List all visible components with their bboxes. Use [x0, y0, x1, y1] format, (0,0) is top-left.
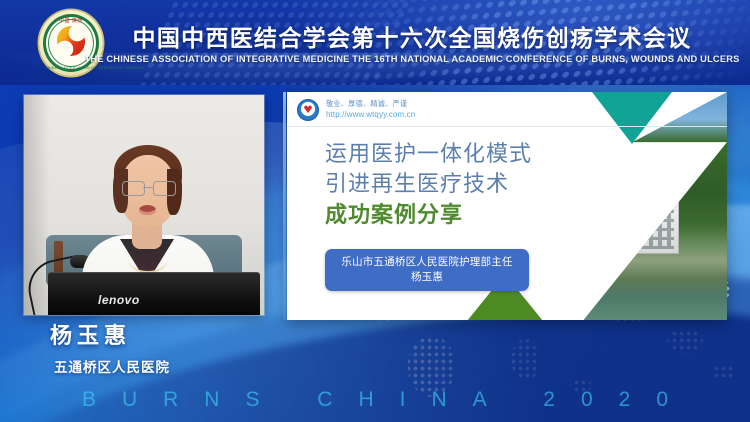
laptop-brand-label: lenovo — [98, 293, 140, 307]
slide-title-line3: 成功案例分享 — [325, 201, 575, 231]
event-wordmark: BURNS CHINA 2020 — [0, 388, 750, 412]
slide-presenter-name: 杨玉惠 — [333, 270, 521, 285]
speaker-mouth — [139, 205, 156, 215]
hospital-motto: 敬业、厚德、精诚、严谨 — [326, 99, 407, 109]
slide-title-line1: 运用医护一体化模式 — [325, 140, 575, 170]
conference-title-cn: 中国中西医结合学会第十六次全国烧伤创疡学术会议 — [0, 19, 750, 53]
conference-header-banner: 中国 烧伤 CHINESE ASSOCIATION OF INTEGRATIVE… — [0, 0, 750, 85]
laptop: lenovo — [48, 272, 260, 315]
slide-left-edge — [283, 92, 286, 320]
glasses-icon — [122, 181, 174, 194]
emblem-bottom-text: CHINESE ASSOCIATION OF INTEGRATIVE MEDIC… — [45, 66, 97, 70]
presentation-slide[interactable]: 敬业、厚德、精诚、严谨 http://www.wtqyy.com.cn 运用医护… — [287, 92, 727, 320]
speaker-name: 杨玉惠 — [50, 318, 224, 350]
teal-triangle-decoration — [592, 92, 672, 144]
broadcast-stage: 中国 烧伤 CHINESE ASSOCIATION OF INTEGRATIVE… — [0, 0, 750, 422]
slide-header-divider — [287, 126, 727, 127]
speaker-caption: 杨玉惠 五通桥区人民医院 — [24, 318, 224, 376]
speaker-organization: 五通桥区人民医院 — [54, 356, 224, 376]
hospital-building-main — [617, 202, 679, 254]
slide-presenter-badge: 乐山市五通桥区人民医院护理部主任 杨玉惠 — [325, 249, 529, 291]
slide-title-line2: 引进再生医疗技术 — [325, 170, 575, 200]
slide-presenter-role: 乐山市五通桥区人民医院护理部主任 — [333, 255, 521, 270]
speaker-necklace — [128, 245, 168, 273]
hospital-rooftop-sign — [623, 198, 671, 202]
hospital-logo-icon — [297, 99, 319, 121]
hospital-url[interactable]: http://www.wtqyy.com.cn — [326, 110, 415, 119]
slide-title: 运用医护一体化模式 引进再生医疗技术 成功案例分享 — [325, 140, 575, 231]
speaker-video-feed[interactable]: lenovo — [24, 95, 264, 315]
conference-title-en: THE CHINESE ASSOCIATION OF INTEGRATIVE M… — [0, 54, 750, 64]
